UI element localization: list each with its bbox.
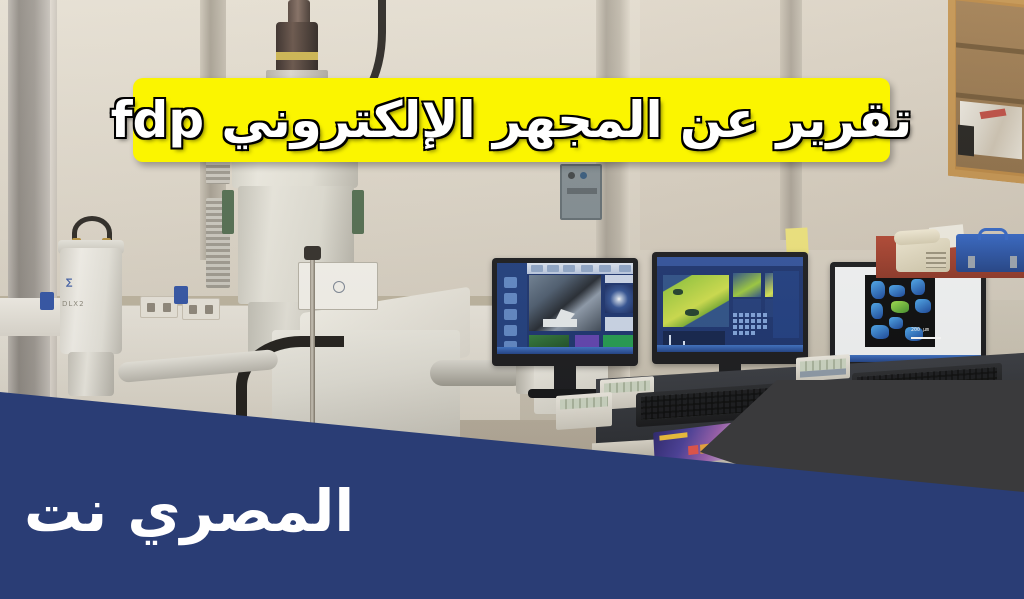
info-pane xyxy=(605,275,633,283)
dewar-model-text: DLX2 xyxy=(62,300,85,308)
toolbar-button xyxy=(619,265,631,272)
telephone-keypad xyxy=(926,252,946,268)
sem-rod-knob xyxy=(304,246,321,260)
gun-label-band xyxy=(276,52,318,60)
toolbox-latch xyxy=(968,256,975,268)
software-toolbar xyxy=(527,263,633,274)
sidebar-icon xyxy=(504,293,517,304)
panel-led xyxy=(580,172,587,179)
blue-toolbox xyxy=(956,234,1024,272)
toolbar-button xyxy=(531,265,543,272)
eds-mapping-monitor xyxy=(652,252,808,364)
toolbar-button xyxy=(599,265,611,272)
page-title: تقرير عن المجهر الإلكتروني pdf xyxy=(111,95,913,145)
blue-clip xyxy=(40,292,54,310)
cabinet-shelf xyxy=(956,42,1024,54)
wooden-wall-cabinet xyxy=(948,0,1024,184)
element-list-panel xyxy=(773,271,799,338)
left-pillar-edge xyxy=(50,0,57,430)
telephone xyxy=(896,238,950,272)
monitor-screen: 200 µm xyxy=(835,267,981,362)
telephone-handset xyxy=(894,228,941,245)
dewar-logo: ∑ xyxy=(66,278,72,288)
map-feature xyxy=(673,289,683,295)
brochure-bar xyxy=(688,445,698,455)
particle xyxy=(871,281,885,299)
particle-highlighted xyxy=(891,301,909,313)
sem-micrograph xyxy=(529,275,601,331)
wall-control-panel xyxy=(560,164,602,220)
dewar-neck xyxy=(68,352,114,396)
particle-micrograph: 200 µm xyxy=(865,275,935,347)
software-sidebar xyxy=(497,263,527,354)
socket-hole xyxy=(189,305,197,314)
software-menubar xyxy=(657,257,803,266)
particle xyxy=(915,299,931,313)
socket-hole xyxy=(205,305,213,314)
particle xyxy=(889,285,905,297)
sem-live-image-monitor xyxy=(492,258,638,366)
particle xyxy=(889,317,903,329)
toolbox-latch xyxy=(1010,256,1017,268)
monitor-screen xyxy=(497,263,633,354)
blue-clip xyxy=(174,286,188,304)
scale-bar xyxy=(911,337,941,339)
bench-instrument xyxy=(556,392,612,430)
sticky-note xyxy=(785,227,808,254)
monitor-screen xyxy=(657,257,803,352)
bench-instrument xyxy=(796,354,850,382)
socket-hole xyxy=(163,303,171,312)
micrograph-fragment xyxy=(543,319,577,327)
eds-elemental-map xyxy=(663,275,729,327)
screenshot-stage: ∑ DLX2 xyxy=(0,0,1024,599)
particle xyxy=(871,325,889,339)
map-feature xyxy=(685,309,699,316)
title-banner: تقرير عن المجهر الإلكتروني pdf xyxy=(133,78,890,162)
brochure-header xyxy=(659,432,687,440)
toolbox-handle xyxy=(978,228,1008,240)
toolbar-button xyxy=(581,265,593,272)
sem-bracket xyxy=(352,190,364,234)
wall-socket xyxy=(140,296,178,318)
diffraction-pattern-panel xyxy=(605,285,633,313)
cabinet-dark-item xyxy=(958,125,974,157)
sem-electron-gun xyxy=(276,22,318,74)
cabinet-glass xyxy=(956,0,1024,173)
os-taskbar xyxy=(657,345,803,352)
panel-slot xyxy=(567,188,597,194)
panel-led xyxy=(568,172,575,179)
left-pillar xyxy=(8,0,52,420)
sidebar-icon xyxy=(504,309,517,320)
map-tile xyxy=(733,273,761,297)
particle xyxy=(911,279,925,295)
instrument-keys xyxy=(560,396,608,409)
scale-bar-label: 200 µm xyxy=(911,327,929,333)
brand-watermark: المصري نت xyxy=(24,482,354,540)
sidebar-icon xyxy=(504,325,517,336)
particle xyxy=(871,303,883,319)
info-pane xyxy=(605,317,633,331)
sidebar-icon xyxy=(504,277,517,288)
control-box-dial xyxy=(333,281,345,293)
os-taskbar xyxy=(497,347,633,354)
socket-hole xyxy=(147,303,155,312)
toolbar-button xyxy=(563,265,575,272)
sem-bracket xyxy=(222,190,234,234)
toolbar-button xyxy=(547,265,559,272)
